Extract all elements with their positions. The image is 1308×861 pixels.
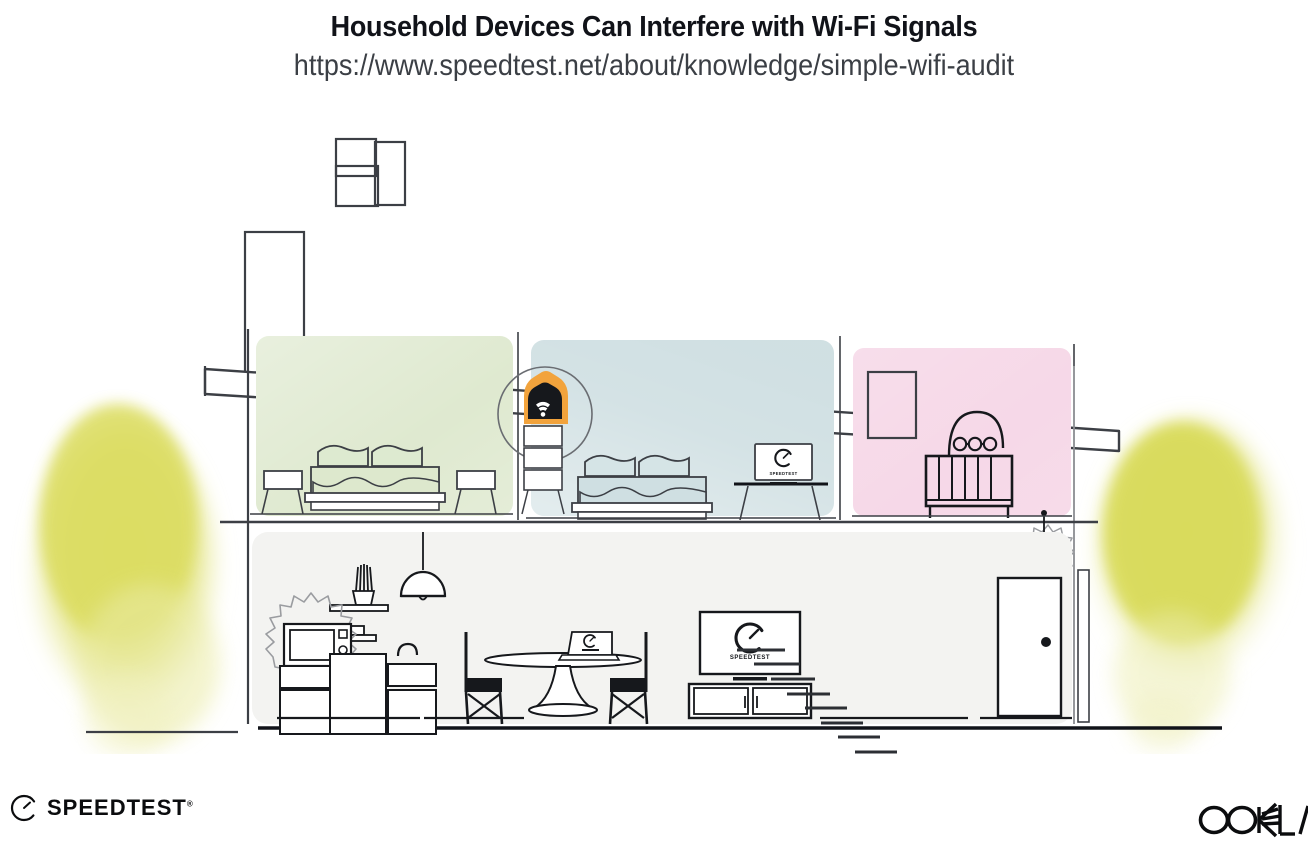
ookla-k <box>1259 804 1280 836</box>
ookla-l <box>1280 805 1295 834</box>
speedtest-trademark: ® <box>187 800 193 809</box>
tree-left <box>33 404 220 754</box>
speedtest-gauge-icon <box>10 794 38 822</box>
ookla-o1 <box>1201 808 1228 833</box>
speedtest-brand-text: SPEEDTEST <box>47 795 187 820</box>
living-room-tv[interactable]: SPEEDTEST <box>700 612 800 681</box>
page-title: Household Devices Can Interfere with Wi-… <box>46 10 1262 44</box>
tree-right <box>1094 419 1286 752</box>
room-ground-floor: SPEEDTEST <box>252 532 1072 754</box>
house-illustration: SPEEDTEST <box>0 104 1308 754</box>
monitor-screen-label: SPEEDTEST <box>769 471 797 476</box>
ookla-o2 <box>1229 808 1256 833</box>
front-door[interactable] <box>998 578 1061 716</box>
header: Household Devices Can Interfere with Wi-… <box>0 0 1308 84</box>
ookla-a <box>1300 806 1308 834</box>
source-url: https://www.speedtest.net/about/knowledg… <box>65 48 1242 84</box>
media-console <box>689 684 811 718</box>
desk-monitor[interactable]: SPEEDTEST <box>755 444 812 485</box>
door-knob <box>1041 637 1051 647</box>
speedtest-logo[interactable]: SPEEDTEST® <box>10 794 193 822</box>
ookla-logo[interactable] <box>1196 800 1308 845</box>
room-bedroom-blue: SPEEDTEST <box>498 336 840 520</box>
wall-frames <box>336 139 405 206</box>
speedtest-wordmark: SPEEDTEST® <box>47 795 193 821</box>
illustration-page: Household Devices Can Interfere with Wi-… <box>0 0 1308 861</box>
tv-screen-label: SPEEDTEST <box>730 655 770 661</box>
footer: SPEEDTEST® <box>0 780 1308 861</box>
